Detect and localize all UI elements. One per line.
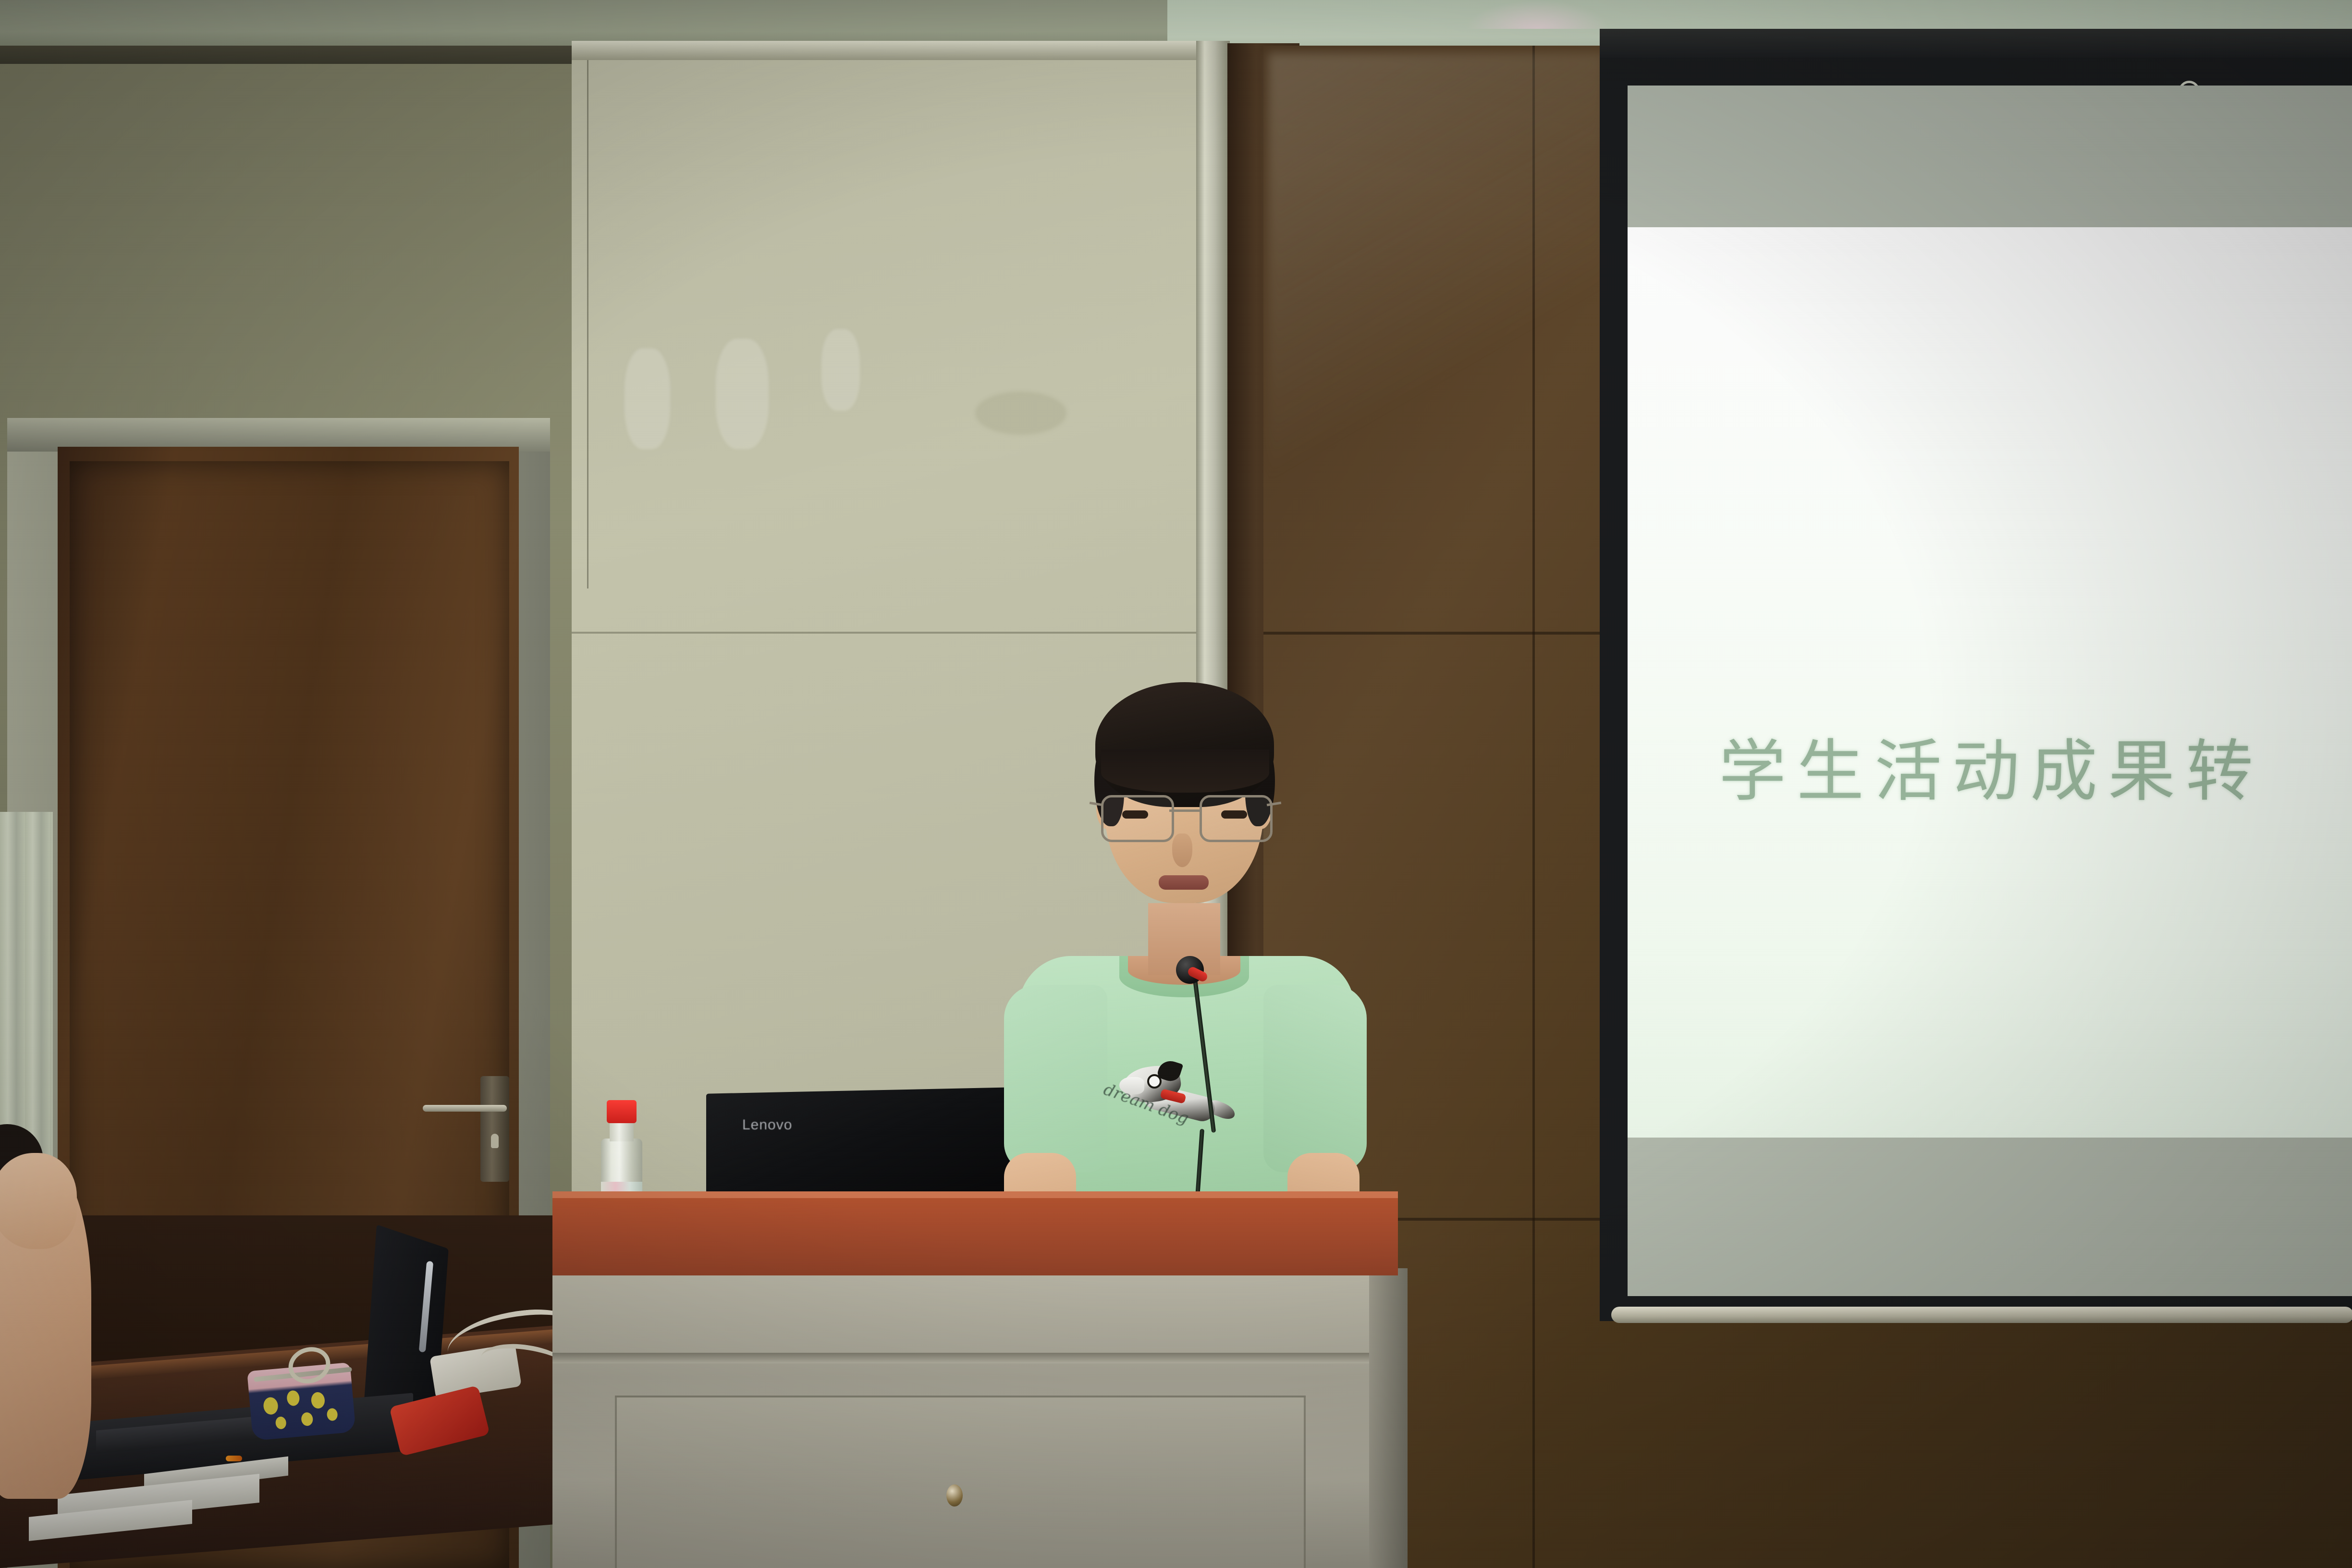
dog-eye [1147,1074,1162,1089]
presentation-room-photo: 学生活动成果转 [0,0,2352,1568]
wall-seam-vertical [587,60,588,588]
presenter-eye-right [1221,810,1247,819]
eyeglass-lens-left [1101,795,1174,842]
wall-top-band-left [0,46,591,64]
laptop-lid [706,1087,1014,1198]
microphone-stem-upper [1192,975,1216,1133]
laptop-indicator-led [226,1456,242,1461]
wood-reflection-highlight [1268,53,1605,581]
pencil-mark [975,392,1066,435]
ceiling-light-glow-icon [1465,0,1609,29]
podium-side-face [1369,1268,1408,1568]
bottle-neck [610,1121,634,1141]
podium-top-highlight [552,1191,1398,1198]
presenter-eye-left [1122,810,1148,819]
presenter-sleeve-right [1263,985,1367,1172]
tape-residue-mark [821,329,860,411]
projected-slide-area: 学生活动成果转 [1628,227,2352,1140]
laptop-on-podium[interactable]: Lenovo [706,1090,1014,1201]
door-handle-plate[interactable] [480,1076,509,1182]
tape-residue-mark [716,339,769,449]
water-bottle [598,1100,644,1196]
bottle-cap [607,1100,637,1123]
door-lever-handle-icon[interactable] [423,1105,507,1112]
screen-surface: 学生活动成果转 [1628,86,2352,1296]
presenter-mouth [1159,875,1209,890]
eyeglass-lens-right [1200,795,1273,842]
screen-weight-bar [1611,1307,2352,1323]
podium-lip [552,1353,1408,1363]
screen-letterbox-bottom [1628,1138,2352,1296]
presenter-sleeve-left [1004,985,1107,1172]
wall-seam-horizontal [572,632,1211,634]
round-knob-icon[interactable] [946,1484,963,1507]
projection-screen[interactable]: 学生活动成果转 [1600,58,2352,1345]
keyhole-icon [491,1134,499,1148]
foreground-person-hand [0,1153,77,1249]
eyeglasses-icon [1101,795,1269,839]
podium-front-panel[interactable] [615,1396,1306,1568]
podium-top-surface [552,1191,1398,1275]
wall-top-band-center [572,41,1211,60]
eyeglass-bridge [1169,809,1200,812]
screen-letterbox-top [1628,86,2352,230]
tape-residue-mark [625,348,670,449]
laptop-brand-logo: Lenovo [742,1117,792,1133]
presenter-hair-fringe [1101,749,1269,793]
slide-title-text: 学生活动成果转 [1719,717,2352,814]
